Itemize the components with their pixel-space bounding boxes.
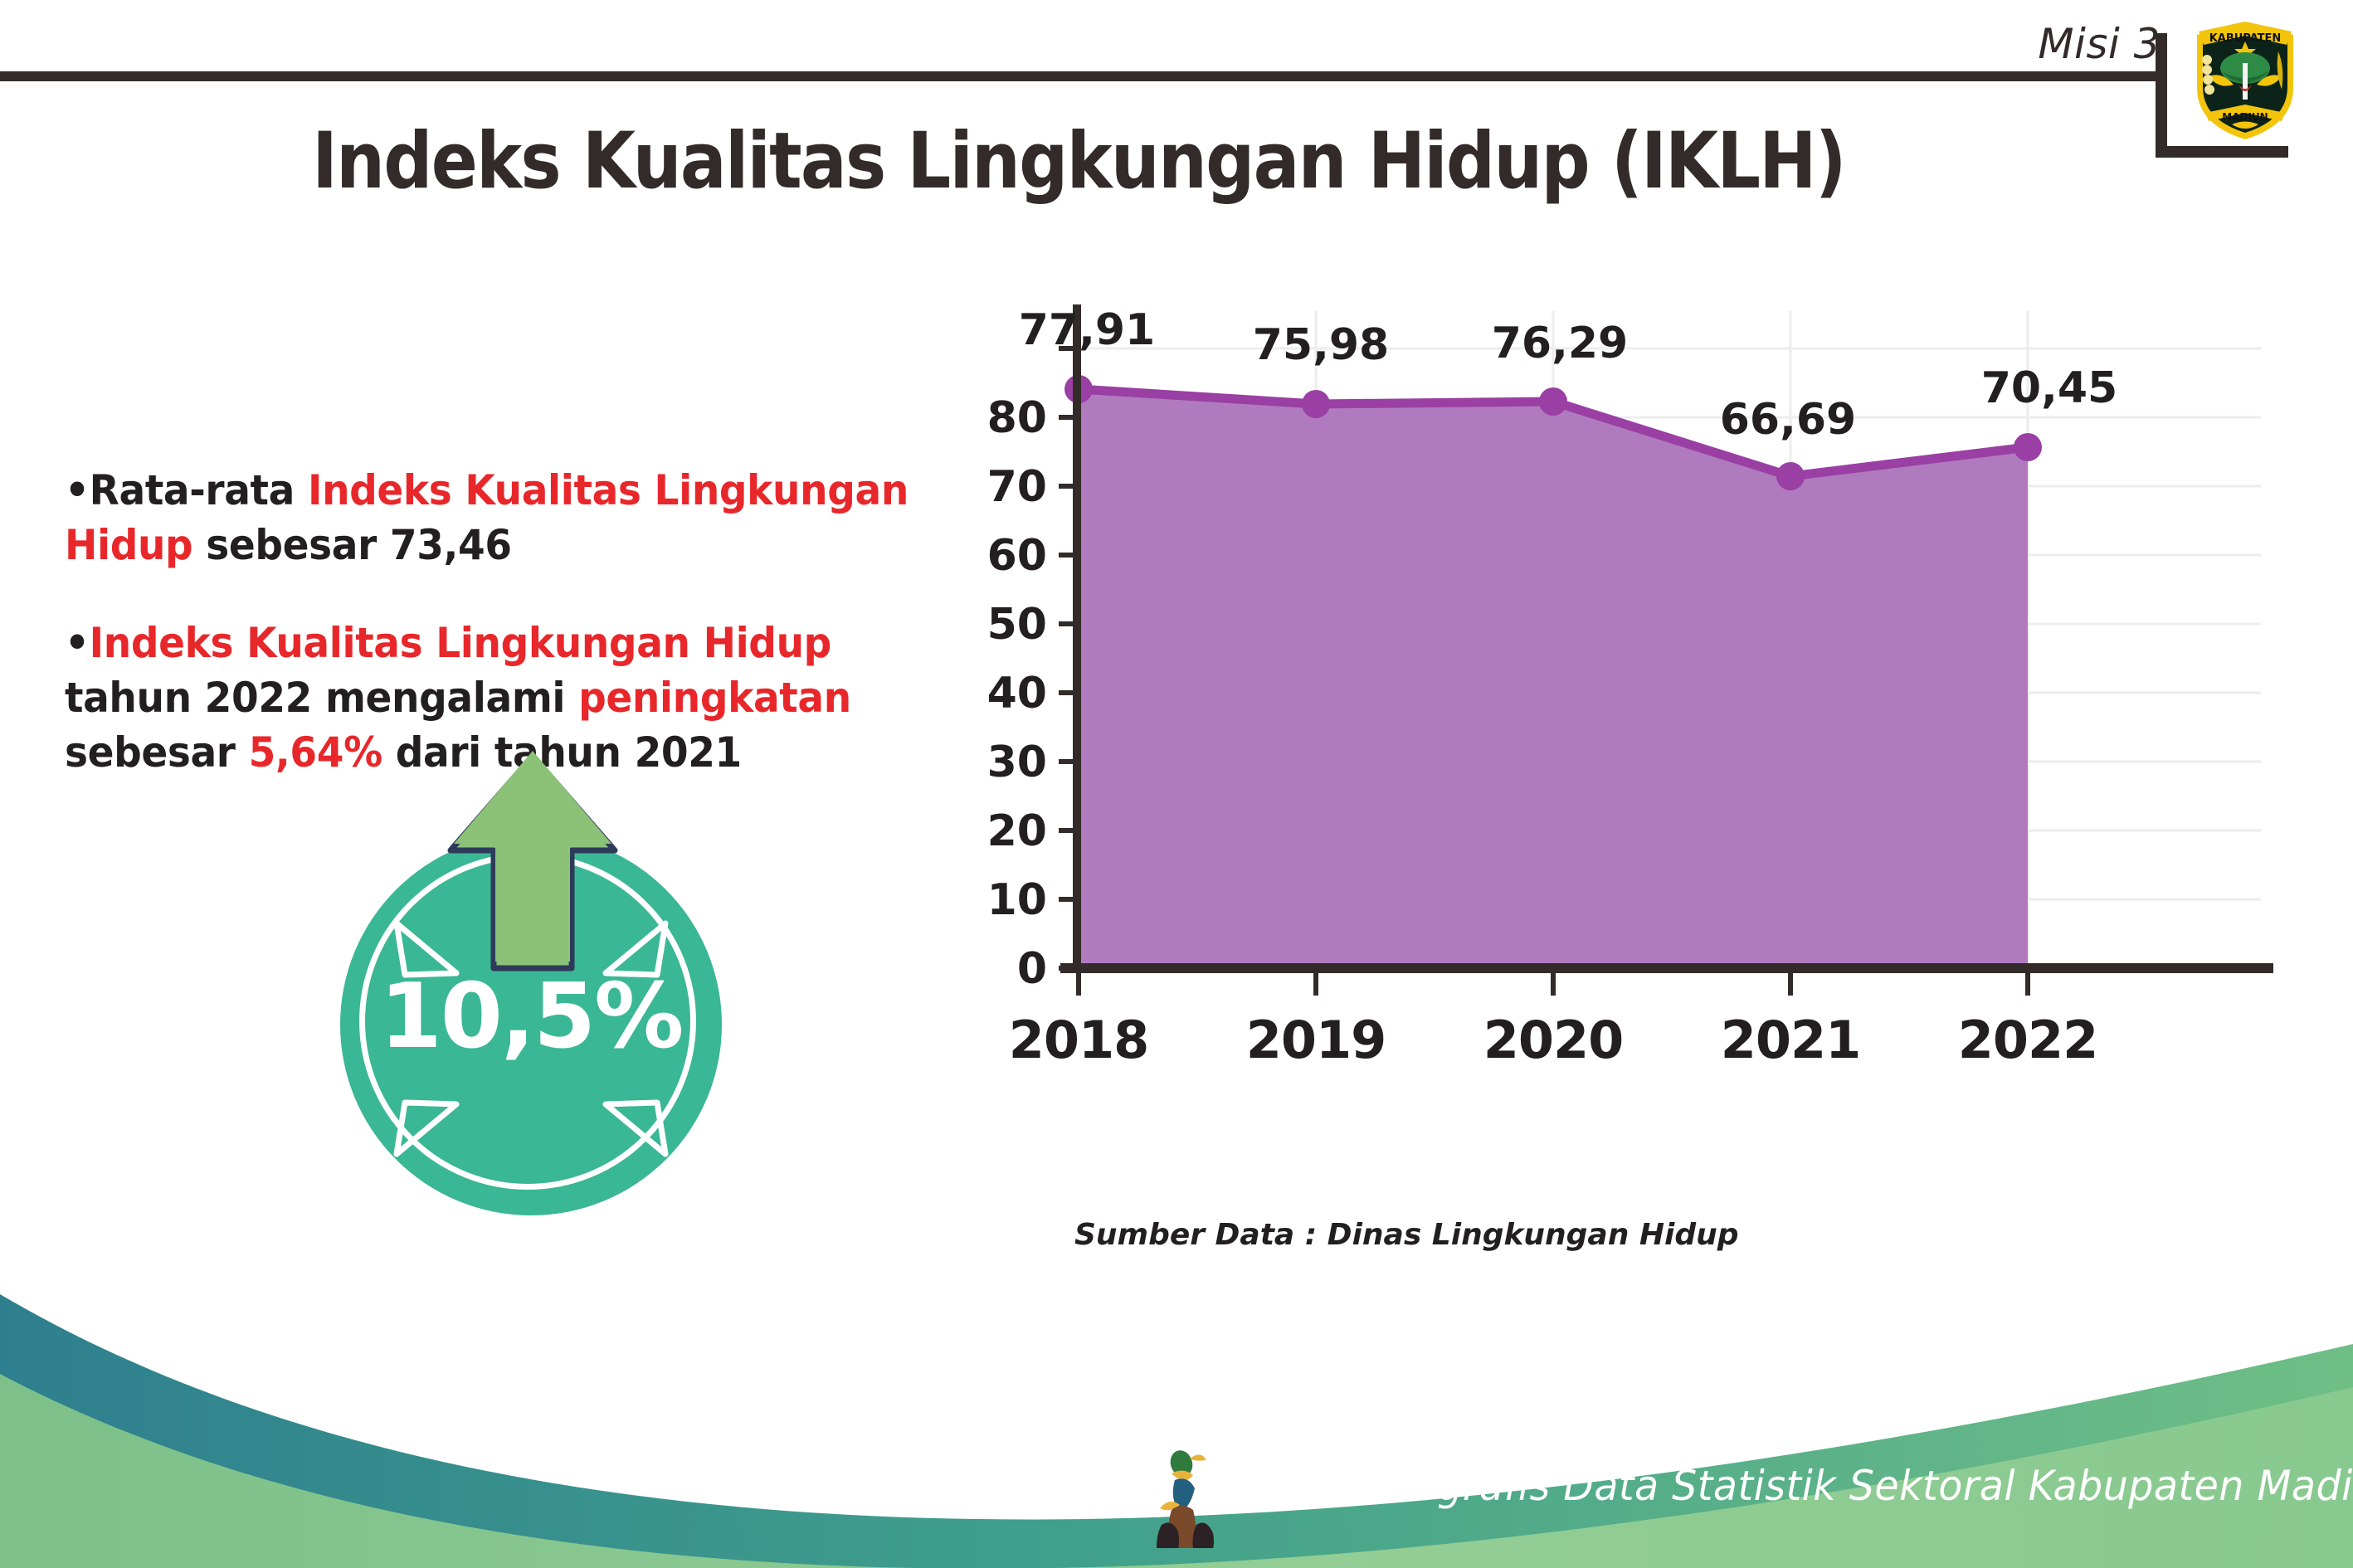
bullet-2-text-highlight-1: Indeks Kualitas Lingkungan Hidup: [90, 619, 831, 667]
y-tick-label-60: 60: [987, 531, 1047, 581]
y-tick-label-70: 70: [987, 462, 1047, 512]
data-label-2021: 66,69: [1720, 395, 1856, 445]
bullet-2-text-highlight-2: peningkatan: [578, 674, 851, 722]
y-tick-label-30: 30: [987, 738, 1047, 787]
x-tick-label-2019: 2019: [1246, 1010, 1386, 1070]
data-label-2019: 75,98: [1253, 320, 1389, 370]
kabupaten-madiun-logo-icon: KABUPATEN MADIUN: [2187, 12, 2303, 144]
y-tick-label-50: 50: [987, 600, 1047, 650]
mission-label: Misi 3: [2038, 20, 2161, 68]
increase-badge: 10,5%: [319, 751, 743, 1191]
chart-source-note: Sumber Data : Dinas Lingkungan Hidup: [1074, 1218, 1739, 1252]
area-fill: [1079, 389, 2028, 968]
page-title: Indeks Kualitas Lingkungan Hidup (IKLH): [129, 116, 2028, 207]
bullet-1-text-plain: Rata-rata: [90, 466, 308, 514]
bullet-item-average: •Rata-rata Indeks Kualitas Lingkungan Hi…: [65, 463, 923, 572]
data-label-2022: 70,45: [1981, 363, 2117, 413]
bullet-marker: •: [65, 619, 90, 667]
header-divider-rule: [0, 71, 2165, 81]
data-label-2018: 77,91: [1019, 305, 1155, 355]
corner-bracket-vertical: [2156, 33, 2167, 158]
footer-caption: Media Infografis Data Statistik Sektoral…: [1228, 1462, 2353, 1510]
bullet-2-text-plain-2: sebesar: [65, 728, 249, 777]
bullet-1-text-tail: sebesar 73,46: [192, 521, 511, 569]
x-tick-label-2022: 2022: [1958, 1010, 2098, 1070]
y-tick-label-0: 0: [1017, 944, 1047, 994]
y-tick-label-10: 10: [987, 875, 1047, 925]
y-tick-label-80: 80: [987, 393, 1047, 443]
data-label-2020: 76,29: [1492, 319, 1628, 368]
x-tick-label-2020: 2020: [1483, 1010, 1624, 1070]
corner-bracket-horizontal: [2156, 146, 2288, 158]
svg-text:MADIUN: MADIUN: [2222, 111, 2268, 123]
y-tick-label-40: 40: [987, 669, 1047, 718]
badge-percentage-value: 10,5%: [340, 965, 722, 1069]
chart-svg: 0 10 20 30 40 50 60 70 80 2018 2019 2020…: [979, 295, 2273, 1174]
x-tick-label-2021: 2021: [1721, 1010, 1861, 1070]
bullet-marker: •: [65, 466, 90, 514]
bullet-2-text-plain-1: tahun 2022 mengalami: [65, 674, 578, 722]
iklh-area-chart: 0 10 20 30 40 50 60 70 80 2018 2019 2020…: [979, 295, 2273, 1174]
dancer-figure-logo-icon: [1147, 1445, 1238, 1553]
x-tick-label-2018: 2018: [1009, 1010, 1149, 1070]
y-tick-label-20: 20: [987, 806, 1047, 856]
